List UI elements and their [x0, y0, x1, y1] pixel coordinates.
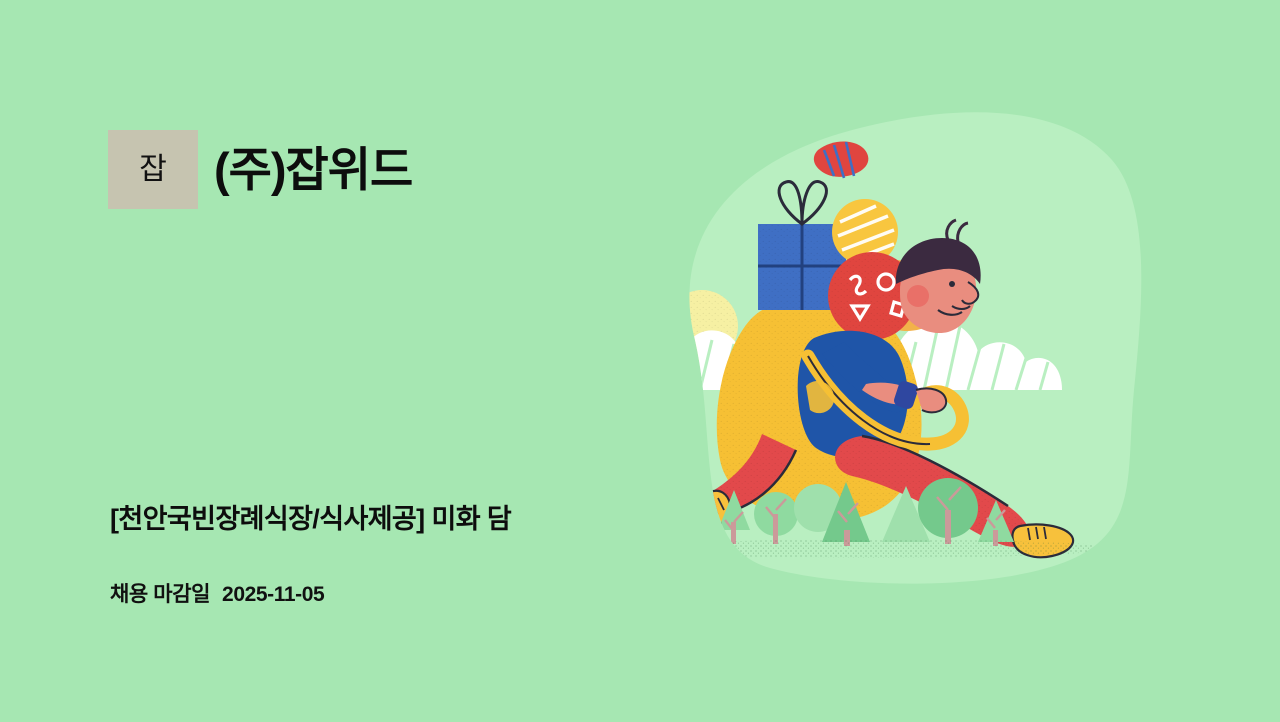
runner-figure	[672, 220, 1073, 557]
shoe-right	[1012, 524, 1073, 557]
job-title: [천안국빈장례식장/식사제공] 미화 담	[110, 503, 511, 537]
cloud-left	[640, 330, 776, 390]
company-header: 잡 (주)잡위드	[108, 130, 412, 209]
background-blob	[689, 112, 1141, 583]
company-name: (주)잡위드	[214, 145, 412, 194]
ball-yellow	[832, 199, 898, 265]
deadline-row: 채용 마감일 2025-11-05	[110, 578, 324, 608]
runner-head	[896, 220, 981, 333]
gift-bag	[717, 298, 922, 521]
cloud-right	[888, 320, 1062, 390]
ball-red	[828, 252, 916, 340]
deadline-date: 2025-11-05	[222, 583, 324, 607]
company-logo: 잡	[108, 130, 198, 209]
tree-row	[718, 478, 1014, 546]
shoe-left	[672, 416, 730, 533]
sun-shape	[666, 290, 738, 362]
company-logo-text: 잡	[139, 155, 167, 185]
illustration-running-delivery-man	[600, 90, 1160, 600]
ground-and-trees	[620, 478, 1140, 590]
gift-box	[758, 182, 846, 310]
striped-wedge	[888, 260, 948, 331]
candy-wedge	[814, 141, 869, 178]
deadline-label: 채용 마감일	[110, 578, 210, 608]
job-posting-card: 잡 (주)잡위드 [천안국빈장례식장/식사제공] 미화 담 채용 마감일 202…	[0, 0, 1280, 722]
